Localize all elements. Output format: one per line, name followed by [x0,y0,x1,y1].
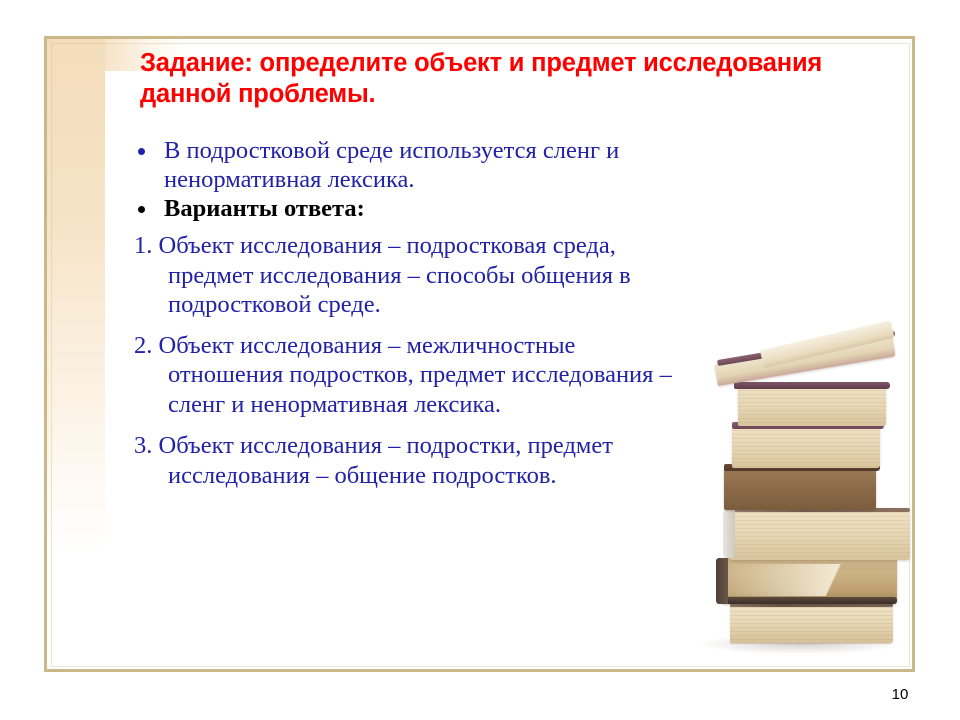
slide-number: 10 [880,686,920,703]
book-5-spine-left [723,510,735,558]
book-7 [730,603,893,643]
frame-border-top [44,36,915,39]
bullet-text: В подростковой среде используется сленг … [164,137,619,193]
answer-list: В подростковой среде используется сленг … [116,136,676,223]
slide-content: Задание: определите объект и предмет исс… [106,48,906,490]
book-5 [730,508,910,560]
bullet-dot-icon [138,148,145,155]
numbered-answers: 1. Объект исследования – подростковая ср… [116,231,676,490]
bullet-item-options-heading: Варианты ответа: [116,194,676,223]
bullet-item-question: В подростковой среде используется сленг … [116,136,676,194]
book-6-highlight [722,564,897,596]
book-6-bottom-edge [722,597,897,604]
answer-option-2[interactable]: 2. Объект исследования – межличностные о… [116,331,676,420]
answer-option-1[interactable]: 1. Объект исследования – подростковая ср… [116,231,676,320]
bullet-dot-icon [138,206,145,213]
frame-border-bottom [44,669,915,672]
frame-band-left [47,39,105,669]
slide-title: Задание: определите объект и предмет исс… [140,48,900,110]
frame-border-left [44,36,47,672]
answer-option-3[interactable]: 3. Объект исследования – подростки, пред… [116,431,676,490]
book-6-spine-left [716,558,728,604]
bullet-text: Варианты ответа: [164,195,365,222]
presentation-slide: Задание: определите объект и предмет исс… [0,0,960,720]
